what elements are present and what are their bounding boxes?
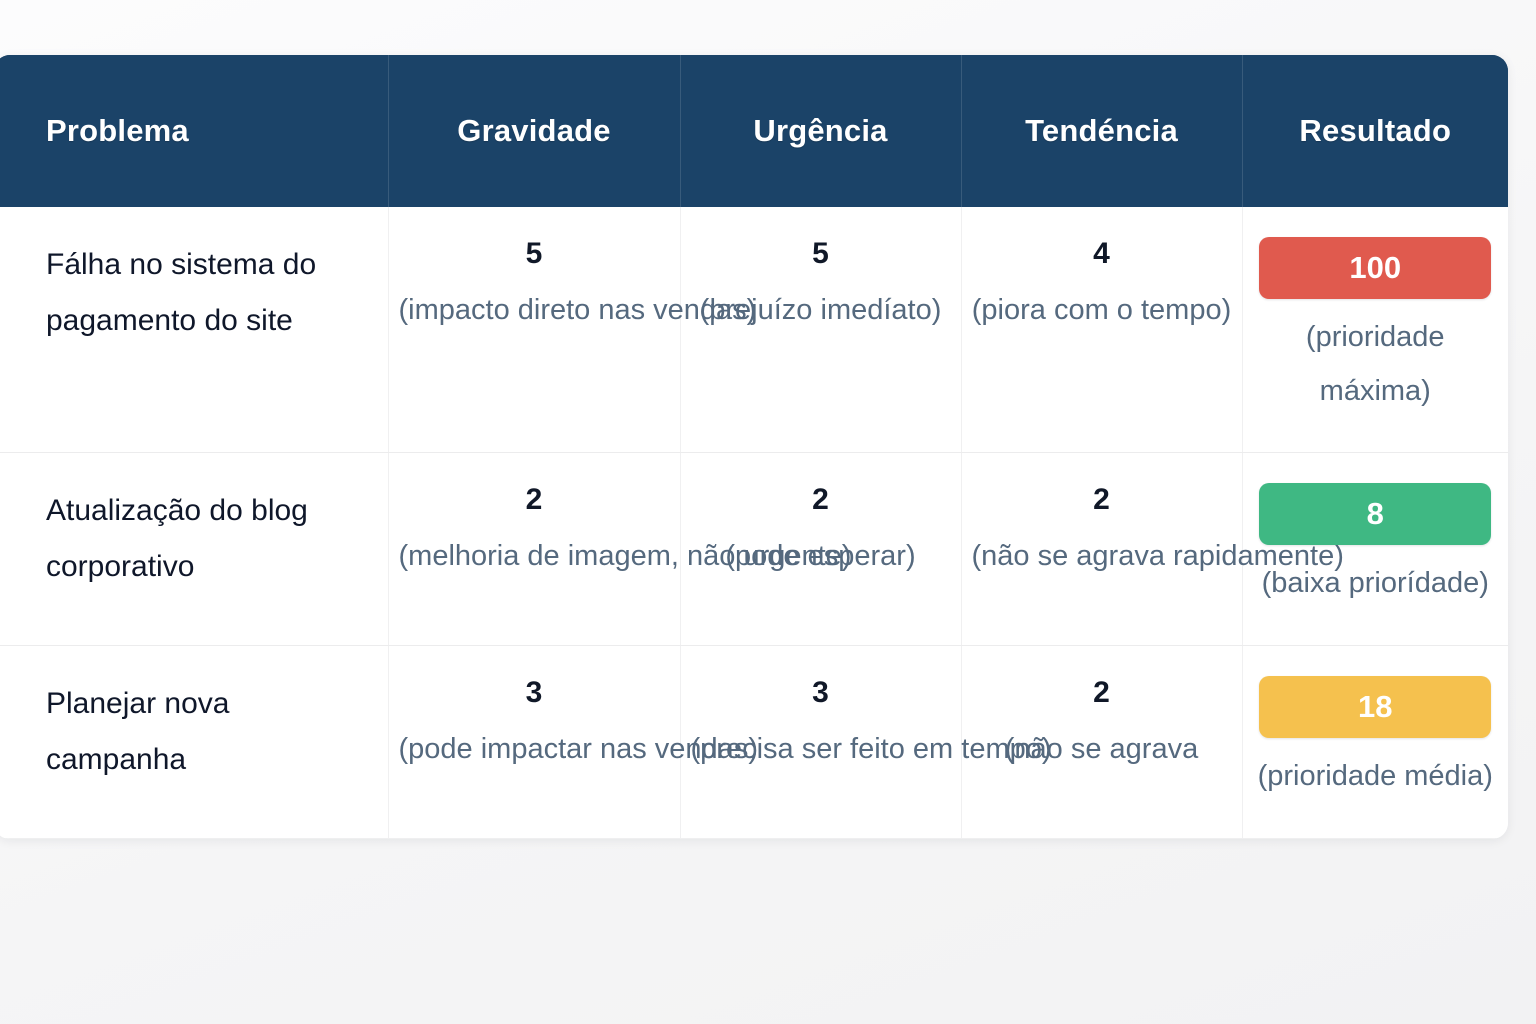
score-note: (não se agrava rapidamente) — [972, 530, 1232, 584]
cell-tendencia: 2 (não se agrava rapidamente) — [961, 453, 1242, 646]
status-badge-value: 18 — [1358, 689, 1392, 724]
score-value: 5 — [691, 237, 951, 272]
score-value: 3 — [399, 676, 670, 711]
gut-priority-table: Problema Gravidade Urgência Tendéncia Re… — [0, 55, 1508, 839]
cell-resultado: 100 (prioridade máxima) — [1242, 207, 1508, 453]
result-note: (prioridade máxima) — [1253, 311, 1499, 418]
table-header-row: Problema Gravidade Urgência Tendéncia Re… — [0, 55, 1508, 207]
table-row: Planejar nova campanha 3 (pode impactar … — [0, 646, 1508, 839]
score-note: (piora com o tempo) — [972, 284, 1232, 338]
column-header-resultado[interactable]: Resultado — [1242, 55, 1508, 207]
column-header-problema[interactable]: Problema — [0, 55, 388, 207]
score-value: 4 — [972, 237, 1232, 272]
score-value: 2 — [399, 483, 670, 518]
cell-gravidade: 5 (impacto direto nas vendas) — [388, 207, 680, 453]
column-header-urgencia[interactable]: Urgência — [680, 55, 961, 207]
result-note: (prioridade média) — [1253, 750, 1499, 804]
cell-resultado: 8 (baixa priorídade) — [1242, 453, 1508, 646]
score-value: 5 — [399, 237, 670, 272]
cell-problema: Fálha no sistema do pagamento do site — [0, 207, 388, 453]
column-header-tendencia[interactable]: Tendéncia — [961, 55, 1242, 207]
cell-problema: Atualização do blog corporativo — [0, 453, 388, 646]
cell-urgencia: 5 (prejuízo imedíato) — [680, 207, 961, 453]
table-row: Atualização do blog corporativo 2 (melho… — [0, 453, 1508, 646]
score-value: 2 — [972, 483, 1232, 518]
cell-gravidade: 3 (pode impactar nas vendas) — [388, 646, 680, 839]
table-header: Problema Gravidade Urgência Tendéncia Re… — [0, 55, 1508, 207]
score-note: (precisa ser feito em tempo) — [691, 723, 951, 777]
score-note: (não se agrava — [972, 723, 1232, 777]
cell-urgencia: 3 (precisa ser feito em tempo) — [680, 646, 961, 839]
score-note: (pode impactar nas vendas) — [399, 723, 670, 777]
score-note: (melhoria de imagem, não urgente) — [399, 530, 670, 584]
status-badge: 18 — [1259, 676, 1491, 738]
score-note: (pode esperar) — [691, 530, 951, 584]
gut-matrix-card: Problema Gravidade Urgência Tendéncia Re… — [0, 55, 1508, 839]
status-badge: 100 — [1259, 237, 1491, 299]
score-value: 3 — [691, 676, 951, 711]
cell-problema: Planejar nova campanha — [0, 646, 388, 839]
status-badge-value: 100 — [1349, 250, 1401, 285]
table-body: Fálha no sistema do pagamento do site 5 … — [0, 207, 1508, 838]
cell-tendencia: 4 (piora com o tempo) — [961, 207, 1242, 453]
status-badge: 8 — [1259, 483, 1491, 545]
score-note: (prejuízo imedíato) — [691, 284, 951, 338]
cell-gravidade: 2 (melhoria de imagem, não urgente) — [388, 453, 680, 646]
score-value: 2 — [691, 483, 951, 518]
column-header-gravidade[interactable]: Gravidade — [388, 55, 680, 207]
status-badge-value: 8 — [1367, 496, 1384, 531]
cell-resultado: 18 (prioridade média) — [1242, 646, 1508, 839]
result-note: (baixa priorídade) — [1253, 557, 1499, 611]
table-row: Fálha no sistema do pagamento do site 5 … — [0, 207, 1508, 453]
score-note: (impacto direto nas vendas) — [399, 284, 670, 338]
score-value: 2 — [972, 676, 1232, 711]
page-background: Problema Gravidade Urgência Tendéncia Re… — [0, 0, 1536, 1024]
